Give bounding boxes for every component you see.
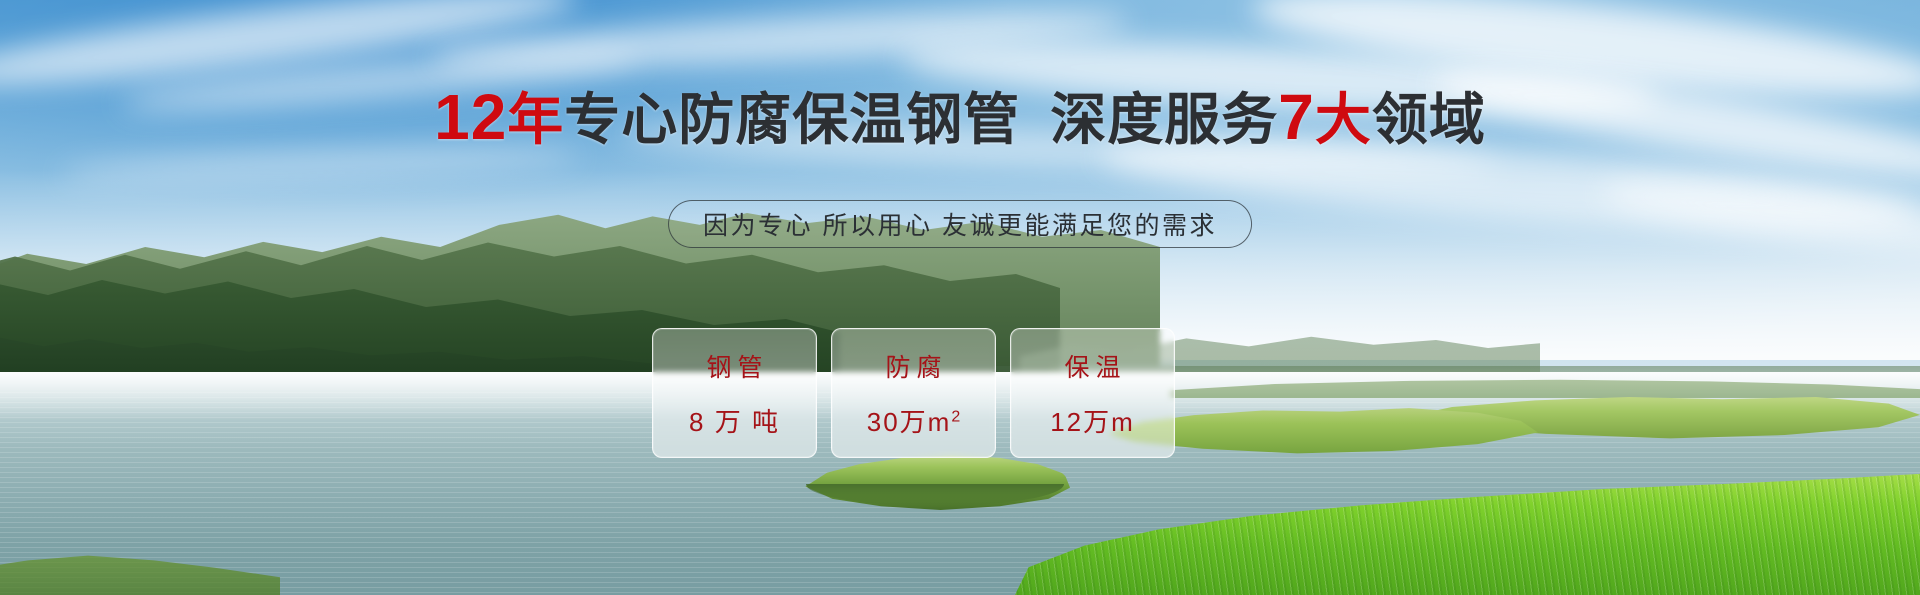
headline-fields-suffix: 领域 xyxy=(1372,88,1486,151)
stat-card-value: 12万m xyxy=(1050,402,1135,439)
hero-banner: 12年专心防腐保温钢管深度服务7大领域 因为专心 所以用心 友诚更能满足您的需求… xyxy=(0,0,1920,595)
headline-service-phrase: 深度服务 xyxy=(1050,88,1278,151)
stat-card-superscript: 2 xyxy=(951,408,960,425)
subtitle-pill: 因为专心 所以用心 友诚更能满足您的需求 xyxy=(668,200,1252,248)
headline-main-phrase: 专心防腐保温钢管 xyxy=(564,88,1020,151)
stat-card-anticorrosion[interactable]: 防腐 30万m2 xyxy=(831,328,996,458)
stat-card-value: 8 万 吨 xyxy=(689,402,780,439)
stat-card-title: 防腐 xyxy=(879,348,947,384)
stat-card-value: 30万m2 xyxy=(867,402,961,439)
stat-card-title: 钢管 xyxy=(700,348,768,384)
stats-card-group: 钢管 8 万 吨 防腐 30万m2 保温 12万m xyxy=(652,328,1175,458)
stat-card-steel-pipe[interactable]: 钢管 8 万 吨 xyxy=(652,328,817,458)
headline-years-unit: 年 xyxy=(507,88,564,151)
stat-card-title: 保温 xyxy=(1058,348,1126,384)
headline-fields-unit: 大 xyxy=(1315,88,1372,151)
stat-card-insulation[interactable]: 保温 12万m xyxy=(1010,328,1175,458)
subtitle-text: 因为专心 所以用心 友诚更能满足您的需求 xyxy=(703,206,1217,242)
headline-fields-number: 7 xyxy=(1278,81,1315,153)
page-title: 12年专心防腐保温钢管深度服务7大领域 xyxy=(0,86,1920,151)
headline-years-number: 12 xyxy=(434,81,507,153)
